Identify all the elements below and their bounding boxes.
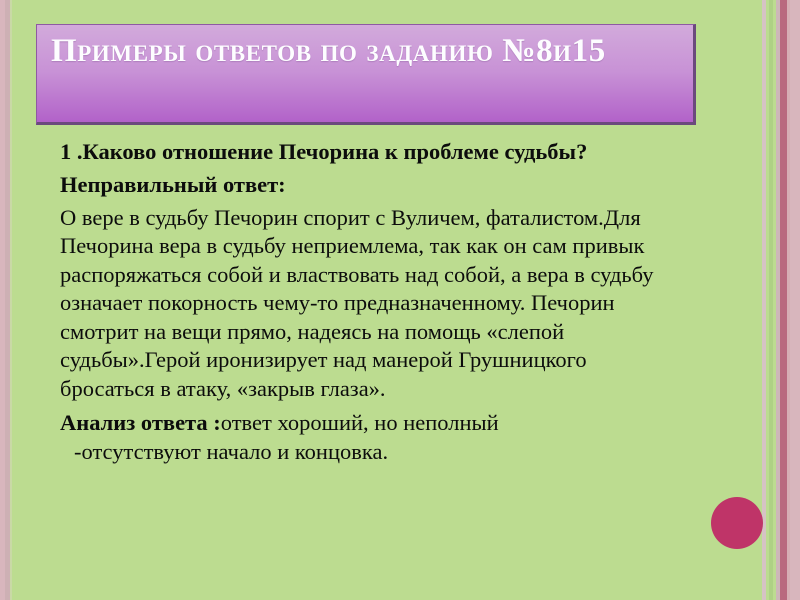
left-edge-decoration bbox=[0, 0, 12, 600]
corner-dot-decoration bbox=[711, 497, 763, 549]
slide-canvas: Примеры ответов по заданию №8и15 1 .Како… bbox=[0, 0, 800, 600]
analysis-continuation: -отсутствуют начало и концовка. bbox=[60, 438, 682, 467]
right-stripe-8 bbox=[790, 0, 800, 600]
analysis-label: Анализ ответа : bbox=[60, 410, 221, 435]
slide-body: 1 .Каково отношение Печорина к проблеме … bbox=[52, 138, 682, 468]
page-title: Примеры ответов по заданию №8и15 bbox=[51, 29, 683, 74]
right-stripe-6 bbox=[780, 0, 787, 600]
left-stripe-3 bbox=[10, 0, 12, 600]
analysis-block: Анализ ответа :ответ хороший, но неполны… bbox=[52, 409, 682, 466]
question-text: 1 .Каково отношение Печорина к проблеме … bbox=[52, 138, 682, 166]
slide-title-box: Примеры ответов по заданию №8и15 bbox=[36, 24, 696, 125]
analysis-text: ответ хороший, но неполный bbox=[221, 410, 499, 435]
wrong-answer-label: Неправильный ответ: bbox=[52, 171, 682, 200]
answer-text: О вере в судьбу Печорин спорит с Вуличем… bbox=[52, 204, 682, 404]
right-edge-decoration bbox=[762, 0, 800, 600]
